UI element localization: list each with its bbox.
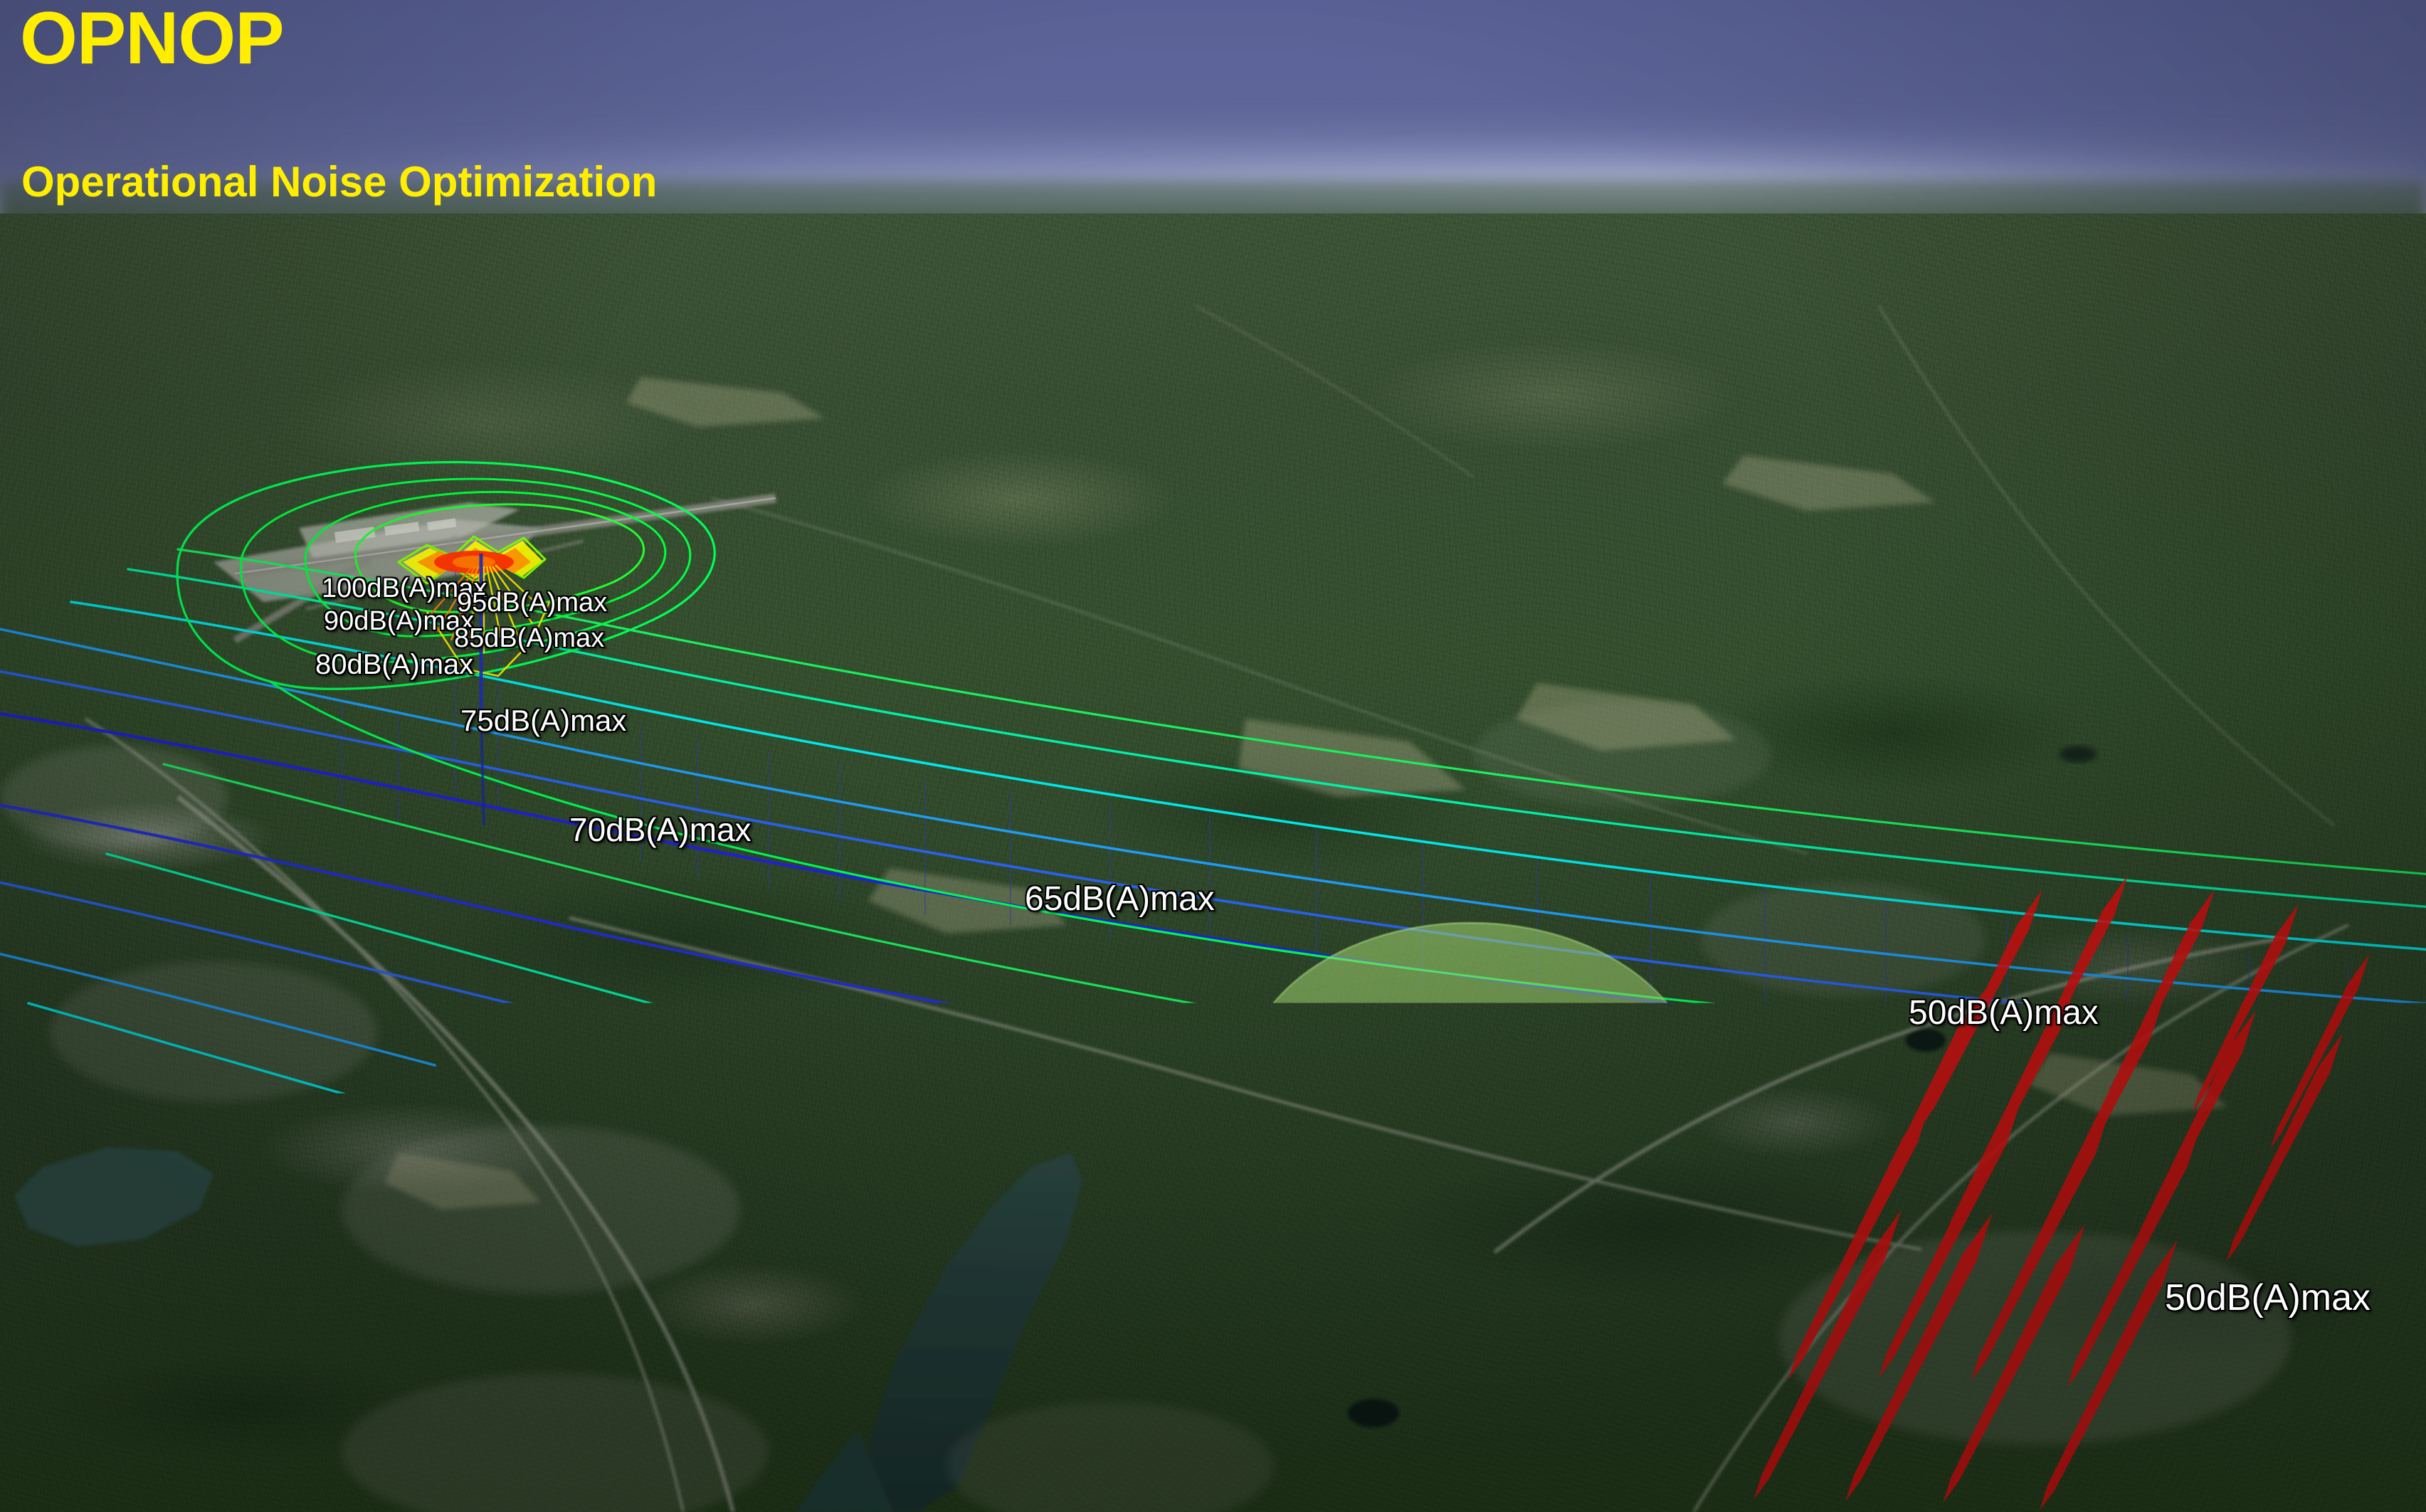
contour-label: 85dB(A)max	[454, 625, 604, 652]
contour-label: 50dB(A)max	[1909, 996, 2099, 1030]
contour-label: 75dB(A)max	[460, 706, 626, 736]
map-features-layer	[0, 0, 2426, 1512]
contour-label: 70dB(A)max	[569, 813, 751, 846]
contour-label: 90dB(A)max	[324, 608, 474, 635]
page-subtitle: Operational Noise Optimization	[21, 161, 657, 203]
page-title: OPNOP	[20, 1, 284, 75]
noise-sensitive-area-ellipse[interactable]	[1243, 923, 1698, 1247]
tarn-dark-2	[1348, 1399, 1399, 1427]
map-viewport[interactable]: OPNOP Operational Noise Optimization 100…	[0, 0, 2426, 1512]
urban-areas	[0, 702, 2291, 1512]
contour-label: 95dB(A)max	[457, 589, 607, 616]
tarn-dark-3	[2060, 746, 2097, 763]
contour-label: 50dB(A)max	[2165, 1279, 2370, 1316]
lake-small-left	[14, 1147, 213, 1247]
contour-label: 80dB(A)max	[315, 650, 473, 679]
contour-label: 65dB(A)max	[1025, 882, 1215, 916]
